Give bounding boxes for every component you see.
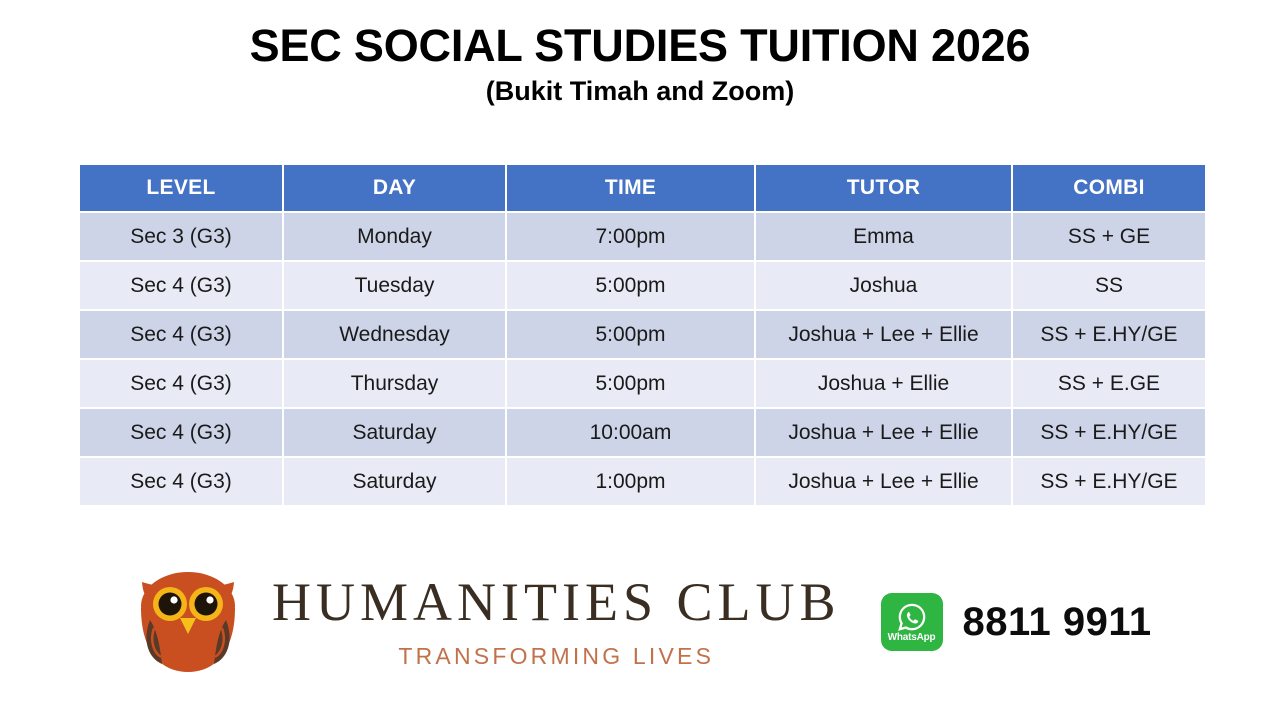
table-row: Sec 3 (G3) Monday 7:00pm Emma SS + GE <box>80 213 1205 260</box>
column-header-combi: COMBI <box>1013 165 1205 211</box>
table-header-row: LEVEL DAY TIME TUTOR COMBI <box>80 165 1205 211</box>
column-header-time: TIME <box>507 165 754 211</box>
cell-combi: SS + E.HY/GE <box>1013 458 1205 505</box>
cell-time: 5:00pm <box>507 360 754 407</box>
cell-level: Sec 4 (G3) <box>80 311 282 358</box>
cell-combi: SS + GE <box>1013 213 1205 260</box>
cell-tutor: Joshua <box>756 262 1011 309</box>
brand-wordmark: HUMANITIES CLUB TRANSFORMING LIVES <box>272 575 841 670</box>
cell-day: Wednesday <box>284 311 505 358</box>
cell-tutor: Emma <box>756 213 1011 260</box>
page-subtitle: (Bukit Timah and Zoom) <box>0 77 1280 107</box>
column-header-level: LEVEL <box>80 165 282 211</box>
cell-tutor: Joshua + Ellie <box>756 360 1011 407</box>
cell-day: Monday <box>284 213 505 260</box>
cell-combi: SS <box>1013 262 1205 309</box>
owl-logo-icon <box>132 564 244 680</box>
brand-name: HUMANITIES CLUB <box>272 575 841 629</box>
cell-day: Saturday <box>284 409 505 456</box>
whatsapp-icon[interactable]: WhatsApp <box>881 593 943 651</box>
whatsapp-glyph-icon <box>897 602 927 632</box>
schedule-table-container: LEVEL DAY TIME TUTOR COMBI Sec 3 (G3) Mo… <box>80 165 1207 505</box>
cell-level: Sec 3 (G3) <box>80 213 282 260</box>
cell-combi: SS + E.GE <box>1013 360 1205 407</box>
cell-level: Sec 4 (G3) <box>80 360 282 407</box>
contact-block: WhatsApp 8811 9911 <box>881 593 1152 651</box>
cell-day: Tuesday <box>284 262 505 309</box>
cell-time: 5:00pm <box>507 262 754 309</box>
cell-time: 1:00pm <box>507 458 754 505</box>
column-header-day: DAY <box>284 165 505 211</box>
cell-combi: SS + E.HY/GE <box>1013 409 1205 456</box>
table-row: Sec 4 (G3) Saturday 10:00am Joshua + Lee… <box>80 409 1205 456</box>
title-block: SEC SOCIAL STUDIES TUITION 2026 (Bukit T… <box>0 0 1280 106</box>
cell-day: Thursday <box>284 360 505 407</box>
cell-level: Sec 4 (G3) <box>80 409 282 456</box>
cell-time: 10:00am <box>507 409 754 456</box>
page-title: SEC SOCIAL STUDIES TUITION 2026 <box>0 22 1280 71</box>
table-row: Sec 4 (G3) Tuesday 5:00pm Joshua SS <box>80 262 1205 309</box>
cell-level: Sec 4 (G3) <box>80 458 282 505</box>
cell-time: 7:00pm <box>507 213 754 260</box>
cell-combi: SS + E.HY/GE <box>1013 311 1205 358</box>
schedule-table: LEVEL DAY TIME TUTOR COMBI Sec 3 (G3) Mo… <box>78 163 1207 507</box>
table-row: Sec 4 (G3) Saturday 1:00pm Joshua + Lee … <box>80 458 1205 505</box>
cell-tutor: Joshua + Lee + Ellie <box>756 311 1011 358</box>
phone-number: 8811 9911 <box>963 600 1152 645</box>
table-row: Sec 4 (G3) Thursday 5:00pm Joshua + Elli… <box>80 360 1205 407</box>
footer-branding: HUMANITIES CLUB TRANSFORMING LIVES Whats… <box>0 552 1280 692</box>
column-header-tutor: TUTOR <box>756 165 1011 211</box>
cell-tutor: Joshua + Lee + Ellie <box>756 409 1011 456</box>
cell-time: 5:00pm <box>507 311 754 358</box>
cell-day: Saturday <box>284 458 505 505</box>
cell-level: Sec 4 (G3) <box>80 262 282 309</box>
brand-tagline: TRANSFORMING LIVES <box>272 643 841 670</box>
table-row: Sec 4 (G3) Wednesday 5:00pm Joshua + Lee… <box>80 311 1205 358</box>
whatsapp-label: WhatsApp <box>888 633 936 643</box>
cell-tutor: Joshua + Lee + Ellie <box>756 458 1011 505</box>
